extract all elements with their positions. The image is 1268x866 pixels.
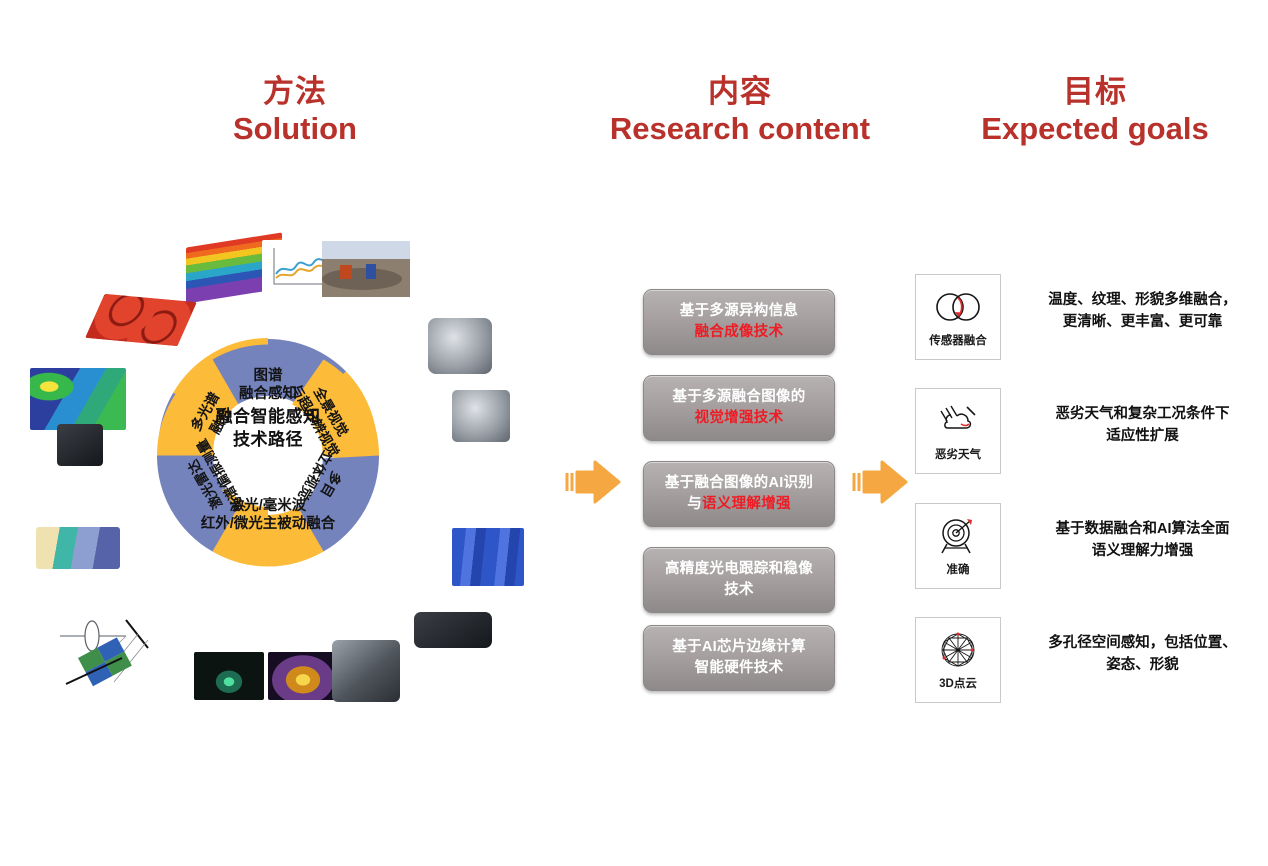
technology-roadmap-donut: 图谱 融合感知 全景视觉 与超分辨视觉 多目 立体视觉 激光/毫米波 红外/微光…	[108, 288, 428, 608]
goal-icon-caption-3: 3D点云	[939, 675, 977, 691]
thumbnail-camera-module	[57, 424, 103, 466]
goal-icon-caption-2: 准确	[947, 561, 970, 577]
process-box-ai-chip-edge[interactable]: 基于AI芯片边缘计算 智能硬件技术	[643, 625, 835, 691]
column-header-goals: 目标 Expected goals	[930, 74, 1260, 147]
goal-1-line1: 恶劣天气和复杂工况条件下	[1025, 404, 1260, 426]
goal-2-line1: 基于数据融合和AI算法全面	[1025, 519, 1260, 541]
arrow-right-icon-2	[852, 458, 908, 506]
goal-3-line2: 姿态、形貌	[1025, 655, 1260, 677]
seg-label-0-line2: 融合感知	[239, 384, 297, 402]
goal-icon-box-accuracy[interactable]: 准确	[915, 503, 1001, 589]
goal-row-point-cloud: 3D点云 多孔径空间感知，包括位置、 姿态、形貌	[915, 617, 1260, 703]
optical-path-icon	[52, 600, 170, 696]
goal-icon-box-point-cloud[interactable]: 3D点云	[915, 617, 1001, 703]
process-box-4-line1: 基于AI芯片边缘计算	[672, 637, 806, 658]
process-box-0-line1: 基于多源异构信息	[680, 301, 798, 322]
goal-row-accuracy: 准确 基于数据融合和AI算法全面 语义理解力增强	[915, 503, 1260, 589]
process-box-4-line2: 智能硬件技术	[672, 658, 806, 679]
column-header-solution-cn: 方法	[150, 74, 440, 111]
rain-weather-icon	[933, 398, 983, 444]
goal-1-line2: 适应性扩展	[1025, 426, 1260, 448]
donut-center-line1: 融合智能感知	[168, 406, 368, 429]
thumbnail-3d-scanned-part	[428, 318, 492, 374]
goal-text-point-cloud: 多孔径空间感知，包括位置、 姿态、形貌	[1025, 633, 1260, 677]
goal-2-line2: 语义理解力增强	[1025, 541, 1260, 563]
thumbnail-point-cloud-surface	[452, 528, 524, 586]
goal-row-sensor-fusion: 传感器融合 温度、纹理、形貌多维融合， 更清晰、更丰富、更可靠	[915, 274, 1260, 360]
goal-text-accuracy: 基于数据融合和AI算法全面 语义理解力增强	[1025, 519, 1260, 563]
column-header-goals-cn: 目标	[930, 74, 1260, 111]
goal-0-line2: 更清晰、更丰富、更可靠	[1025, 312, 1260, 334]
process-box-3-line1: 高精度光电跟踪和稳像	[665, 559, 813, 580]
column-header-content-cn: 内容	[560, 74, 920, 111]
process-box-tracking-stabilize[interactable]: 高精度光电跟踪和稳像 技术	[643, 547, 835, 613]
target-dart-icon	[934, 513, 982, 559]
goal-icon-caption-0: 传感器融合	[929, 332, 987, 348]
process-box-2-line2: 语义理解增强	[702, 496, 791, 512]
goal-3-line1: 多孔径空间感知，包括位置、	[1025, 633, 1260, 655]
arrow-solution-to-content	[565, 458, 621, 511]
goal-0-line1: 温度、纹理、形貌多维融合，	[1025, 290, 1260, 312]
process-box-0-line2: 融合成像技术	[680, 322, 798, 343]
column-header-goals-en: Expected goals	[930, 111, 1260, 148]
column-header-content-en: Research content	[560, 111, 920, 148]
process-box-1-line2: 视觉增强技术	[672, 408, 805, 429]
goal-icon-caption-1: 恶劣天气	[935, 446, 981, 462]
arrow-content-to-goals	[852, 458, 908, 511]
process-box-ai-semantic[interactable]: 基于融合图像的AI识别 与语义理解增强	[643, 461, 835, 527]
goal-icon-box-sensor-fusion[interactable]: 传感器融合	[915, 274, 1001, 360]
goal-text-sensor-fusion: 温度、纹理、形貌多维融合， 更清晰、更丰富、更可靠	[1025, 290, 1260, 334]
column-header-solution-en: Solution	[150, 111, 440, 148]
goal-row-bad-weather: 恶劣天气 恶劣天气和复杂工况条件下 适应性扩展	[915, 388, 1260, 474]
thumbnail-measurement-instrument	[452, 390, 510, 442]
thumbnail-optoelectronic-turret	[332, 640, 400, 702]
point-cloud-sphere-icon	[935, 627, 981, 673]
thumbnail-stereo-camera-bar	[414, 612, 492, 648]
donut-center-label: 融合智能感知 技术路径	[168, 406, 368, 452]
seg-label-3-line2: 红外/微光主被动融合	[201, 514, 336, 532]
seg-label-0-line1: 图谱	[254, 366, 283, 384]
process-box-3-line2: 技术	[665, 580, 813, 601]
donut-center-line2: 技术路径	[168, 429, 368, 452]
column-header-content: 内容 Research content	[560, 74, 920, 147]
process-box-fusion-imaging[interactable]: 基于多源异构信息 融合成像技术	[643, 289, 835, 355]
goal-text-bad-weather: 恶劣天气和复杂工况条件下 适应性扩展	[1025, 404, 1260, 448]
process-box-2-line1: 基于融合图像的AI识别	[665, 473, 813, 494]
thumbnail-infrared-scene-image	[268, 652, 338, 700]
diagram-canvas: 方法 Solution 内容 Research content 目标 Expec…	[0, 0, 1268, 866]
thumbnail-lowlight-boat-image	[194, 652, 264, 700]
process-box-1-line1: 基于多源融合图像的	[672, 387, 805, 408]
column-header-solution: 方法 Solution	[150, 74, 440, 147]
process-box-2-prefix: 与	[687, 496, 702, 512]
goal-icon-box-bad-weather[interactable]: 恶劣天气	[915, 388, 1001, 474]
venn-sensor-fusion-icon	[931, 284, 985, 330]
process-box-visual-enhancement[interactable]: 基于多源融合图像的 视觉增强技术	[643, 375, 835, 441]
arrow-right-icon	[565, 458, 621, 506]
thumbnail-optical-path-diagram	[52, 600, 170, 696]
